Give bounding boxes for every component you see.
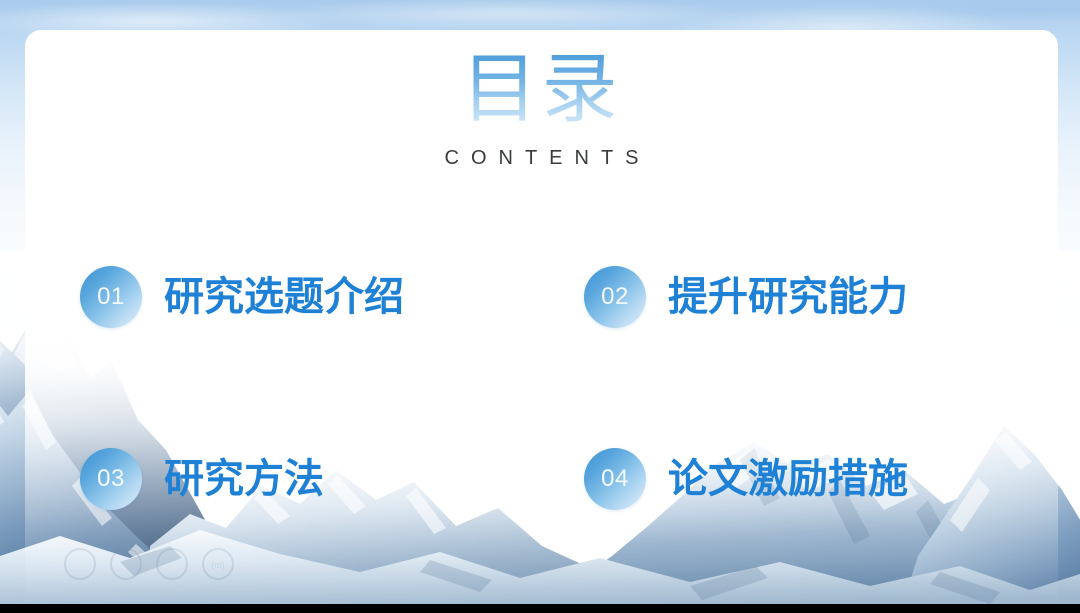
contents-item-number-badge: 04 (584, 448, 646, 510)
contents-item-02[interactable]: 02 提升研究能力 (584, 238, 1010, 356)
letterbox-bar-bottom (0, 604, 1080, 613)
page-title: 目录 (25, 52, 1058, 128)
contents-item-label: 研究方法 (164, 459, 324, 499)
contents-item-number-badge: 02 (584, 266, 646, 328)
contents-item-01[interactable]: 01 研究选题介绍 (80, 238, 506, 356)
contents-item-number-badge: 03 (80, 448, 142, 510)
content-card: 目录 CONTENTS 01 研究选题介绍 02 提升研究能力 03 研究方法 … (25, 30, 1058, 613)
contents-item-03[interactable]: 03 研究方法 (80, 420, 506, 538)
contents-item-number-badge: 01 (80, 266, 142, 328)
contents-list: 01 研究选题介绍 02 提升研究能力 03 研究方法 04 论文激励措施 (80, 238, 1010, 538)
contents-item-label: 论文激励措施 (668, 459, 908, 499)
presentation-slide: (m) 目录 CONTENTS 01 研究选题介绍 02 提升研究能力 03 研… (0, 0, 1080, 613)
page-subtitle: CONTENTS (25, 148, 1058, 168)
contents-item-label: 研究选题介绍 (164, 277, 404, 317)
slide-heading: 目录 CONTENTS (25, 52, 1058, 168)
contents-item-04[interactable]: 04 论文激励措施 (584, 420, 1010, 538)
contents-item-label: 提升研究能力 (668, 277, 908, 317)
